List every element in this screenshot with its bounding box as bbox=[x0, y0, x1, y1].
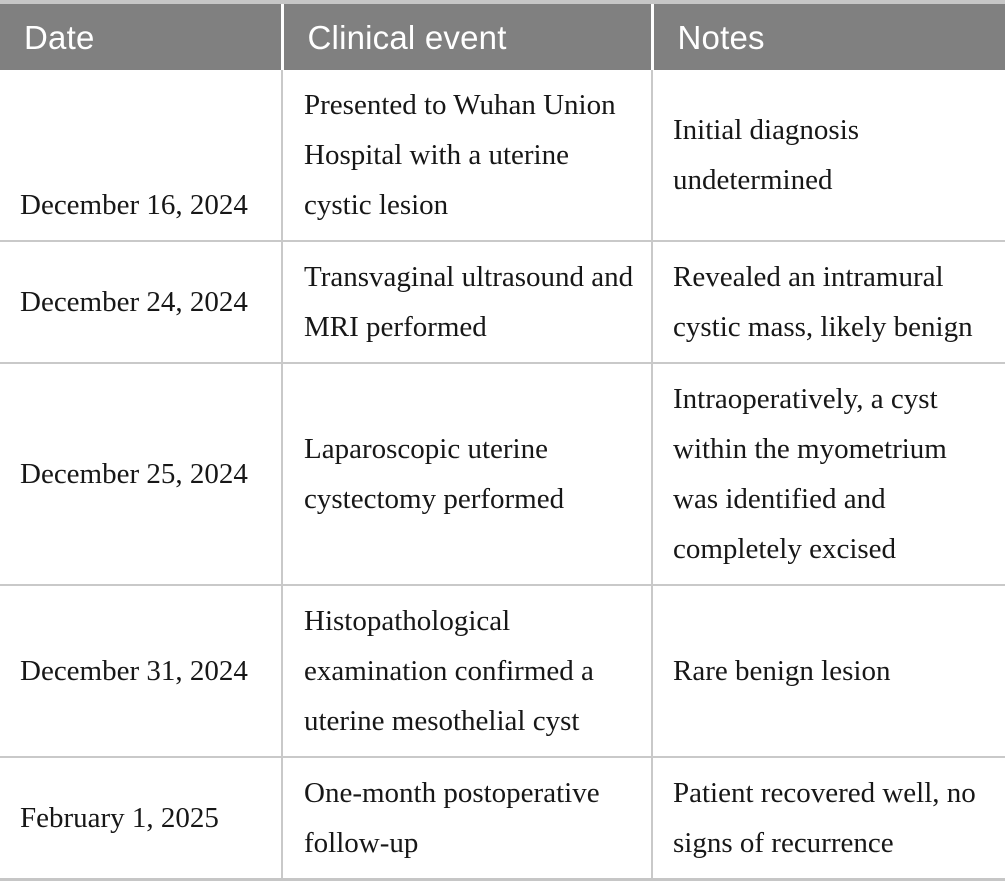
cell-date: December 16, 2024 bbox=[0, 70, 282, 241]
date-text: December 31, 2024 bbox=[20, 646, 265, 696]
cell-date: December 25, 2024 bbox=[0, 363, 282, 585]
table-row: December 24, 2024 Transvaginal ultrasoun… bbox=[0, 241, 1005, 363]
notes-text: Rare benign lesion bbox=[673, 646, 997, 696]
clinical-event-text: Laparoscopic uterine cystectomy performe… bbox=[304, 424, 641, 524]
date-text: December 25, 2024 bbox=[20, 449, 265, 499]
table-row: December 16, 2024 Presented to Wuhan Uni… bbox=[0, 70, 1005, 241]
table-row: February 1, 2025 One-month postoperative… bbox=[0, 757, 1005, 880]
cell-date: December 31, 2024 bbox=[0, 585, 282, 757]
notes-text: Intraoperatively, a cyst within the myom… bbox=[673, 374, 997, 574]
clinical-timeline-table: Date Clinical event Notes December 16, 2… bbox=[0, 0, 1005, 881]
notes-text: Patient recovered well, no signs of recu… bbox=[673, 768, 997, 868]
cell-clinical-event: Histopathological examination confirmed … bbox=[282, 585, 652, 757]
clinical-event-text: Presented to Wuhan Union Hospital with a… bbox=[304, 80, 641, 230]
table-header: Date Clinical event Notes bbox=[0, 2, 1005, 70]
cell-date: December 24, 2024 bbox=[0, 241, 282, 363]
date-text: December 24, 2024 bbox=[20, 277, 265, 327]
column-header-notes: Notes bbox=[652, 2, 1005, 70]
table-row: December 31, 2024 Histopathological exam… bbox=[0, 585, 1005, 757]
table-container: Date Clinical event Notes December 16, 2… bbox=[0, 0, 1005, 848]
cell-clinical-event: Transvaginal ultrasound and MRI performe… bbox=[282, 241, 652, 363]
cell-notes: Initial diagnosis undetermined bbox=[652, 70, 1005, 241]
notes-text: Revealed an intramural cystic mass, like… bbox=[673, 252, 997, 352]
date-text: February 1, 2025 bbox=[20, 793, 265, 843]
date-text: December 16, 2024 bbox=[20, 180, 265, 230]
cell-clinical-event: Presented to Wuhan Union Hospital with a… bbox=[282, 70, 652, 241]
table-body: December 16, 2024 Presented to Wuhan Uni… bbox=[0, 70, 1005, 880]
cell-notes: Intraoperatively, a cyst within the myom… bbox=[652, 363, 1005, 585]
notes-text: Initial diagnosis undetermined bbox=[673, 105, 997, 205]
cell-notes: Revealed an intramural cystic mass, like… bbox=[652, 241, 1005, 363]
column-header-date: Date bbox=[0, 2, 282, 70]
clinical-event-text: Transvaginal ultrasound and MRI performe… bbox=[304, 252, 641, 352]
cell-clinical-event: Laparoscopic uterine cystectomy performe… bbox=[282, 363, 652, 585]
table-row: December 25, 2024 Laparoscopic uterine c… bbox=[0, 363, 1005, 585]
cell-clinical-event: One-month postoperative follow-up bbox=[282, 757, 652, 880]
table-header-row: Date Clinical event Notes bbox=[0, 2, 1005, 70]
cell-date: February 1, 2025 bbox=[0, 757, 282, 880]
clinical-event-text: One-month postoperative follow-up bbox=[304, 768, 641, 868]
column-header-clinical-event: Clinical event bbox=[282, 2, 652, 70]
cell-notes: Patient recovered well, no signs of recu… bbox=[652, 757, 1005, 880]
cell-notes: Rare benign lesion bbox=[652, 585, 1005, 757]
clinical-event-text: Histopathological examination confirmed … bbox=[304, 596, 641, 746]
